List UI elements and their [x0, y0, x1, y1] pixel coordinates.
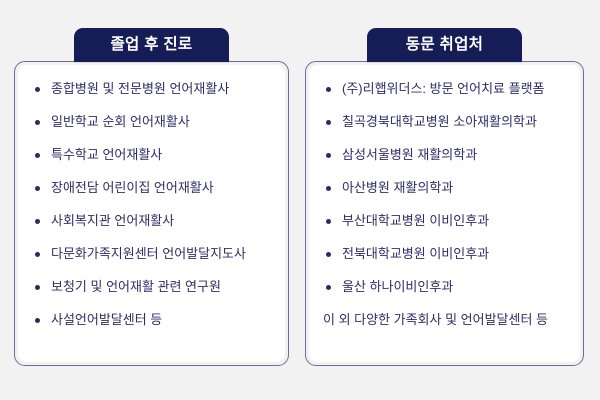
bullet-icon	[35, 318, 40, 323]
list-item: 칠곡경북대학교병원 소아재활의학과	[323, 115, 566, 130]
list-item: 보청기 및 언어재활 관련 연구원	[32, 280, 271, 295]
list-item: 울산 하나이비인후과	[323, 280, 566, 295]
list-item-label: 사설언어발달센터 등	[51, 312, 162, 327]
panel-alumni-employers: 동문 취업처 (주)리햅위더스: 방문 언어치료 플랫폼 칠곡경북대학교병원 소…	[305, 28, 584, 366]
card-outer-alumni-employers: (주)리햅위더스: 방문 언어치료 플랫폼 칠곡경북대학교병원 소아재활의학과 …	[305, 61, 584, 366]
panel-title: 졸업 후 진로	[110, 37, 192, 53]
bullet-icon	[35, 186, 40, 191]
list-item: 이 외 다양한 가족회사 및 언어발달센터 등	[323, 313, 566, 328]
bullet-icon	[326, 153, 331, 158]
bullet-icon	[326, 285, 331, 290]
list-item-label: 장애전담 어린이집 언어재활사	[51, 180, 214, 195]
list-item: 특수학교 언어재활사	[32, 148, 271, 163]
list-item: 전북대학교병원 이비인후과	[323, 247, 566, 262]
career-paths-list: 종합병원 및 전문병원 언어재활사 일반학교 순회 언어재활사 특수학교 언어재…	[32, 82, 271, 328]
bullet-icon	[326, 186, 331, 191]
bullet-icon	[35, 285, 40, 290]
list-item-label: 전북대학교병원 이비인후과	[342, 246, 489, 261]
list-item: 부산대학교병원 이비인후과	[323, 214, 566, 229]
bullet-icon	[35, 153, 40, 158]
list-item: 아산병원 재활의학과	[323, 181, 566, 196]
bullet-icon	[35, 252, 40, 257]
list-item-label: 일반학교 순회 언어재활사	[51, 114, 190, 129]
bullet-icon	[326, 219, 331, 224]
list-item-label: 보청기 및 언어재활 관련 연구원	[51, 279, 221, 294]
alumni-employers-list: (주)리햅위더스: 방문 언어치료 플랫폼 칠곡경북대학교병원 소아재활의학과 …	[323, 82, 566, 328]
list-item: 사설언어발달센터 등	[32, 313, 271, 328]
list-item-label: 칠곡경북대학교병원 소아재활의학과	[342, 114, 537, 129]
list-item-label: 사회복지관 언어재활사	[51, 213, 174, 228]
list-item-label: (주)리햅위더스: 방문 언어치료 플랫폼	[342, 81, 545, 96]
list-item: 종합병원 및 전문병원 언어재활사	[32, 82, 271, 97]
bullet-icon	[326, 252, 331, 257]
bullet-icon	[326, 87, 331, 92]
card-inner-career-paths: 종합병원 및 전문병원 언어재활사 일반학교 순회 언어재활사 특수학교 언어재…	[18, 65, 285, 362]
list-item-label: 특수학교 언어재활사	[51, 147, 162, 162]
card-inner-alumni-employers: (주)리햅위더스: 방문 언어치료 플랫폼 칠곡경북대학교병원 소아재활의학과 …	[309, 65, 580, 362]
panel-header-alumni-employers: 동문 취업처	[367, 28, 522, 62]
panel-career-paths: 졸업 후 진로 종합병원 및 전문병원 언어재활사 일반학교 순회 언어재활사 …	[14, 28, 289, 366]
list-item: 삼성서울병원 재활의학과	[323, 148, 566, 163]
list-item-label: 부산대학교병원 이비인후과	[342, 213, 489, 228]
bullet-icon	[35, 87, 40, 92]
list-item: 다문화가족지원센터 언어발달지도사	[32, 247, 271, 262]
list-item-label: 다문화가족지원센터 언어발달지도사	[51, 246, 246, 261]
list-item: 일반학교 순회 언어재활사	[32, 115, 271, 130]
list-item-label: 울산 하나이비인후과	[342, 279, 453, 294]
bullet-icon	[35, 219, 40, 224]
bullet-icon	[326, 120, 331, 125]
list-item: (주)리햅위더스: 방문 언어치료 플랫폼	[323, 82, 566, 97]
infographic-board: 졸업 후 진로 종합병원 및 전문병원 언어재활사 일반학교 순회 언어재활사 …	[0, 0, 600, 400]
bullet-icon	[35, 120, 40, 125]
card-outer-career-paths: 종합병원 및 전문병원 언어재활사 일반학교 순회 언어재활사 특수학교 언어재…	[14, 61, 289, 366]
list-item: 사회복지관 언어재활사	[32, 214, 271, 229]
list-item-label: 이 외 다양한 가족회사 및 언어발달센터 등	[323, 312, 548, 327]
list-item-label: 종합병원 및 전문병원 언어재활사	[51, 81, 229, 96]
panel-header-career-paths: 졸업 후 진로	[74, 28, 229, 62]
list-item: 장애전담 어린이집 언어재활사	[32, 181, 271, 196]
list-item-label: 아산병원 재활의학과	[342, 180, 453, 195]
panel-title: 동문 취업처	[406, 37, 483, 53]
list-item-label: 삼성서울병원 재활의학과	[342, 147, 477, 162]
